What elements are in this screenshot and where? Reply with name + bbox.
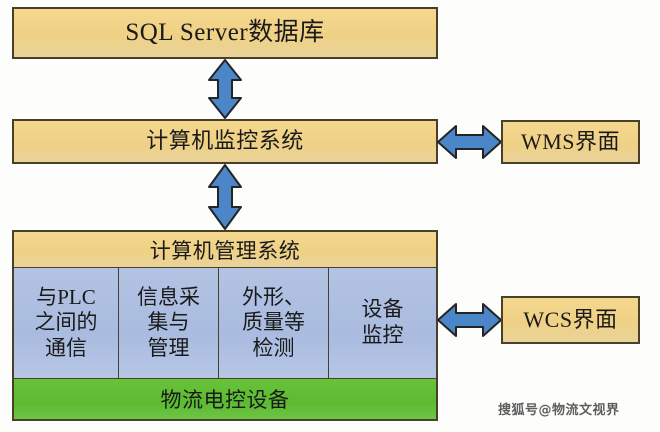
node-database: SQL Server数据库 <box>12 7 438 59</box>
subsystem-equipment-monitoring-label: 设备 监控 <box>362 297 404 348</box>
node-management-system: 计算机管理系统 <box>14 232 436 268</box>
connector-monitoring-to-wms-arrow <box>436 123 503 161</box>
node-wcs-interface-label: WCS界面 <box>523 308 617 333</box>
subsystem-equipment-monitoring: 设备 监控 <box>329 268 436 378</box>
node-wms-interface-label: WMS界面 <box>521 130 620 155</box>
watermark-text: 搜狐号@物流文视界 <box>498 399 620 418</box>
node-monitoring-system: 计算机监控系统 <box>12 119 438 164</box>
subsystem-information-collection-label: 信息采 集与 管理 <box>137 285 200 362</box>
subsystem-plc-communication-label: 与PLC 之间的 通信 <box>35 285 98 362</box>
node-wcs-interface: WCS界面 <box>501 296 640 344</box>
connector-database-to-monitoring-arrow <box>204 58 246 120</box>
connector-monitoring-to-management-arrow <box>204 163 246 231</box>
node-management-system-label: 计算机管理系统 <box>150 235 301 265</box>
subsystem-row: 与PLC 之间的 通信 信息采 集与 管理 外形、 质量等 检测 设备 监控 <box>14 268 436 379</box>
node-database-label: SQL Server数据库 <box>125 19 324 47</box>
node-logistics-equipment-label: 物流电控设备 <box>161 384 290 414</box>
node-wms-interface: WMS界面 <box>501 120 640 164</box>
node-logistics-equipment: 物流电控设备 <box>14 379 436 419</box>
diagram-canvas: SQL Server数据库 计算机监控系统 WMS界面 计算机管理系统 与PLC… <box>0 0 660 432</box>
connector-subsystems-to-wcs-arrow <box>436 301 503 339</box>
subsystem-information-collection: 信息采 集与 管理 <box>119 268 219 378</box>
node-management-stack: 计算机管理系统 与PLC 之间的 通信 信息采 集与 管理 外形、 质量等 检测… <box>12 230 438 421</box>
subsystem-shape-quality-inspection-label: 外形、 质量等 检测 <box>242 285 305 362</box>
node-monitoring-system-label: 计算机监控系统 <box>146 129 304 154</box>
subsystem-plc-communication: 与PLC 之间的 通信 <box>14 268 119 378</box>
subsystem-shape-quality-inspection: 外形、 质量等 检测 <box>219 268 329 378</box>
